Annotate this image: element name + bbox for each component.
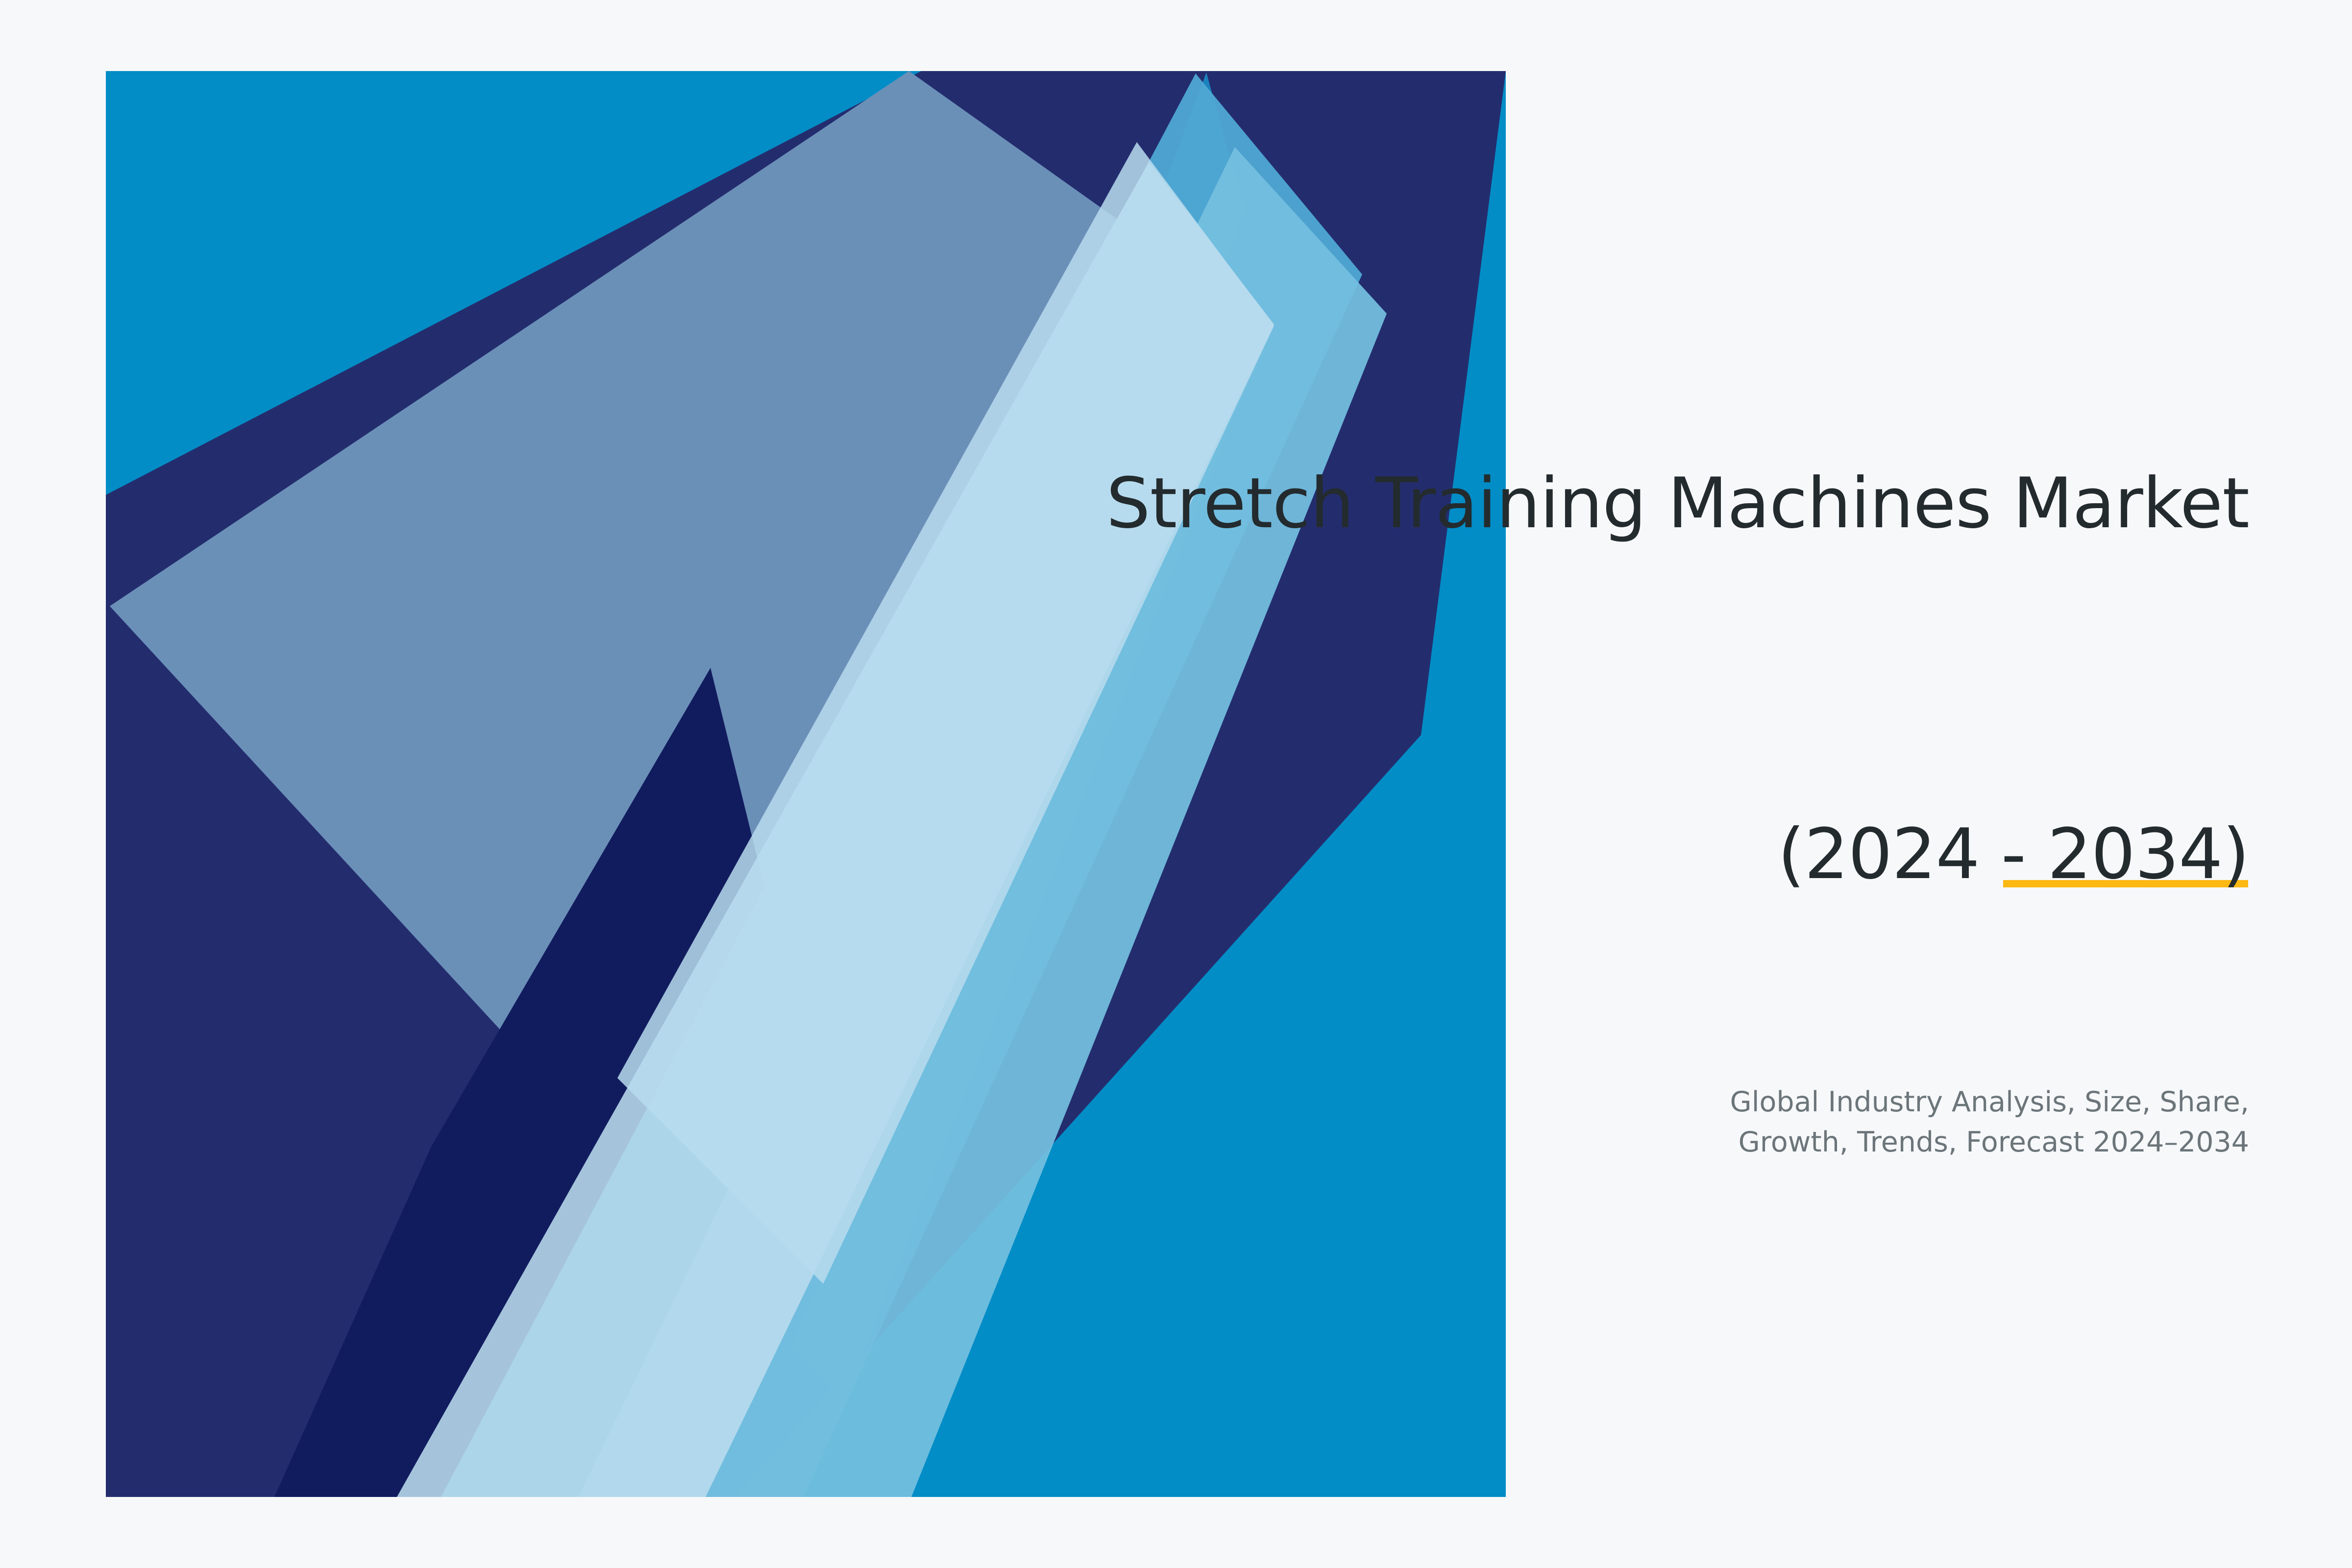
cover-page: Stretch Training Machines Market (2024 -… — [0, 0, 2352, 1568]
deep-navy-lower-block — [274, 668, 848, 1497]
page-subtitle: Global Industry Analysis, Size, Share,Gr… — [931, 1082, 2249, 1162]
page-title-line-2: (2024 - 2034) — [1778, 814, 2249, 895]
deep-navy-spike — [343, 668, 828, 1497]
page-title-line-1: Stretch Training Machines Market — [931, 460, 2249, 548]
title-block: Stretch Training Machines Market (2024 -… — [931, 372, 2249, 1163]
page-title-line-2-wrapper: (2024 - 2034) — [931, 636, 2249, 899]
page-title: Stretch Training Machines Market (2024 -… — [931, 372, 2249, 986]
page-subtitle-line-1: Global Industry Analysis, Size, Share, — [1730, 1086, 2249, 1118]
page-subtitle-line-2: Growth, Trends, Forecast 2024–2034 — [1739, 1126, 2249, 1158]
